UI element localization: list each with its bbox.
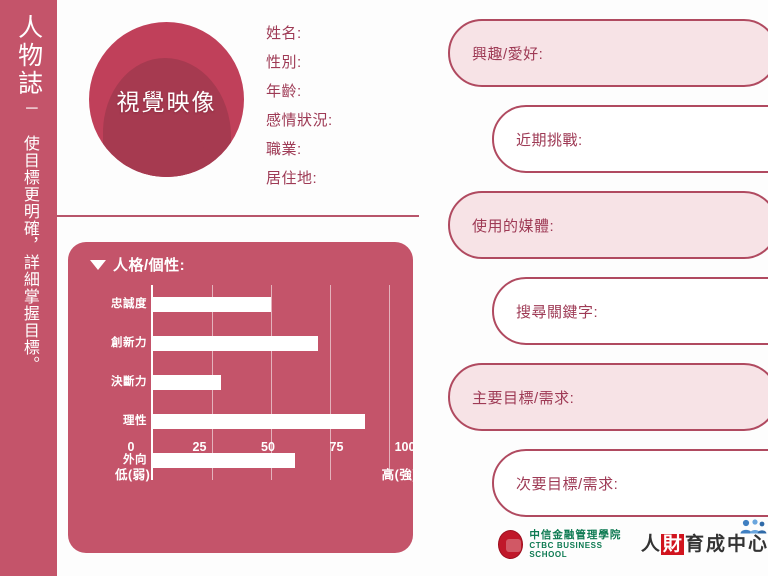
chart-tick-label: 0 xyxy=(128,440,135,454)
chart-bar-row xyxy=(153,402,389,441)
chart-title: 人格/個性: xyxy=(113,254,185,275)
pill-secondary-goal[interactable]: 次要目標/需求: xyxy=(492,449,768,517)
profile-field-age: 年齡: xyxy=(266,77,416,106)
profile-field-list: 姓名: 性別: 年齡: 感情狀況: 職業: 居住地: xyxy=(266,19,416,193)
ctbc-name-block: 中信金融管理學院 CTBC BUSINESS SCHOOL xyxy=(529,529,628,559)
talent-char-boxed: 財 xyxy=(661,534,684,555)
chart-tick-label: 50 xyxy=(261,440,275,454)
chart-axis-endpoint-labels: 低(弱) 高(強) xyxy=(131,464,405,483)
pill-label: 興趣/愛好: xyxy=(472,43,543,64)
chart-tick-label: 100 xyxy=(395,440,416,454)
chart-category-label: 決斷力 xyxy=(88,363,147,402)
talent-center-text: 人 財 育 成 中 心 xyxy=(640,534,768,555)
talent-char: 心 xyxy=(747,535,768,554)
chart-bar xyxy=(153,375,221,390)
footer-logos: 中信金融管理學院 CTBC BUSINESS SCHOOL 人 財 育 成 中 … xyxy=(498,529,768,559)
talent-center-logo: 人 財 育 成 中 心 xyxy=(640,534,768,555)
triangle-down-icon xyxy=(90,260,106,270)
talent-char: 育 xyxy=(684,535,705,554)
chart-bar-row xyxy=(153,285,389,324)
avatar-label: 視覺映像 xyxy=(89,22,244,177)
chart-bar-row xyxy=(153,324,389,363)
pill-primary-goal[interactable]: 主要目標/需求: xyxy=(448,363,768,431)
profile-field-name: 姓名: xyxy=(266,19,416,48)
pill-media-used[interactable]: 使用的媒體: xyxy=(448,191,768,259)
sidebar: 人物誌 － 使目標更明確，詳細掌握目標。 xyxy=(0,0,57,576)
chart-category-label: 創新力 xyxy=(88,324,147,363)
pill-label: 搜尋關鍵字: xyxy=(516,301,598,322)
pill-recent-challenges[interactable]: 近期挑戰: xyxy=(492,105,768,173)
persona-slide: 人物誌 － 使目標更明確，詳細掌握目標。 視覺映像 姓名: 性別: 年齡: 感情… xyxy=(0,0,768,576)
chart-tick-label: 75 xyxy=(330,440,344,454)
profile-field-gender: 性別: xyxy=(266,48,416,77)
chart-header: 人格/個性: xyxy=(90,254,397,275)
ctbc-logo: 中信金融管理學院 CTBC BUSINESS SCHOOL xyxy=(498,529,628,559)
profile-field-residence: 居住地: xyxy=(266,164,416,193)
section-divider xyxy=(57,215,419,217)
sidebar-subtitle: － 使目標更明確，詳細掌握目標。 xyxy=(20,100,37,373)
chart-bar xyxy=(153,336,318,351)
chart-bar xyxy=(153,414,365,429)
talent-char: 成 xyxy=(705,535,726,554)
avatar: 視覺映像 xyxy=(89,22,244,177)
ctbc-name-cn: 中信金融管理學院 xyxy=(529,529,628,541)
profile-field-relationship: 感情狀況: xyxy=(266,106,416,135)
chart-category-label: 理性 xyxy=(88,402,147,441)
ctbc-seal-icon xyxy=(498,530,523,559)
talent-char: 中 xyxy=(726,535,747,554)
people-group-icon xyxy=(739,519,767,534)
ctbc-name-en: CTBC BUSINESS SCHOOL xyxy=(529,541,628,559)
sidebar-title: 人物誌 xyxy=(15,14,41,98)
chart-bar xyxy=(153,297,271,312)
pill-label: 使用的媒體: xyxy=(472,215,554,236)
talent-char: 人 xyxy=(640,535,661,554)
chart-high-label: 高(強) xyxy=(382,464,417,483)
pill-label: 次要目標/需求: xyxy=(516,473,618,494)
personality-chart-card: 人格/個性: 忠誠度 創新力 決斷力 理性 外向 0255075100 低(弱)… xyxy=(68,242,413,553)
profile-field-occupation: 職業: xyxy=(266,135,416,164)
pill-label: 近期挑戰: xyxy=(516,129,583,150)
chart-bar-row xyxy=(153,363,389,402)
chart-x-axis-ticks: 0255075100 xyxy=(131,440,405,458)
chart-tick-label: 25 xyxy=(193,440,207,454)
pill-interests[interactable]: 興趣/愛好: xyxy=(448,19,768,87)
chart-category-label: 忠誠度 xyxy=(88,285,147,324)
pill-label: 主要目標/需求: xyxy=(472,387,574,408)
chart-low-label: 低(弱) xyxy=(115,464,150,483)
pill-search-keywords[interactable]: 搜尋關鍵字: xyxy=(492,277,768,345)
